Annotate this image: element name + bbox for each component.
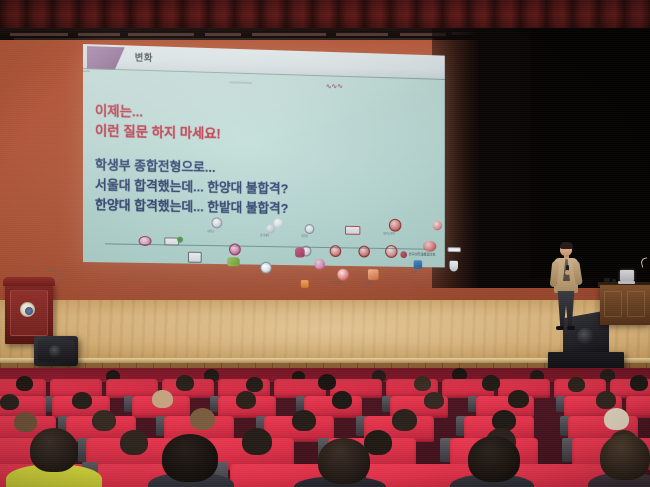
audience-head: [162, 434, 218, 482]
slide-faint-mark-2: ~~: [83, 69, 90, 75]
desk-panel: [627, 291, 645, 317]
laptop-screen: [620, 270, 634, 281]
emblem-logo: [337, 269, 348, 281]
slide-blue-line-1: 학생부 종합전형으로...: [95, 154, 216, 176]
emblem-label: 국립대: [301, 234, 308, 238]
audience-head: [292, 410, 316, 431]
emblem-logo: [274, 219, 283, 228]
slide-red-line-2: 이런 질문 하지 마세요!: [95, 119, 221, 142]
slide-footer-logo-text: 한국대학교육협의회: [409, 253, 436, 258]
podium-desk: [600, 285, 650, 325]
audience-head: [30, 428, 78, 472]
audience-head: [242, 428, 272, 455]
emblem-logo: [433, 221, 442, 231]
desk-object: [612, 279, 616, 282]
emblem-label: 대학교 본부: [383, 231, 394, 235]
emblem-logo: [450, 261, 458, 272]
projection-screen: 변화 ~~ ∿∿∿ 이제는... 이런 질문 하지 마세요! 학생부 종합전형으…: [83, 44, 445, 267]
audience-head: [596, 391, 616, 409]
lectern-crest-icon: [20, 302, 35, 317]
emblem-logo: [211, 217, 222, 228]
desk-object: [604, 278, 610, 282]
audience-seating: [0, 368, 650, 487]
audience-depth-shading: [0, 368, 650, 390]
emblem-label: 한국대학: [260, 233, 269, 237]
emblem-logo: [385, 245, 397, 258]
slide-body: ~~ ∿∿∿ 이제는... 이런 질문 하지 마세요! 학생부 종합전형으로..…: [83, 69, 445, 267]
presenter-hand: [565, 270, 570, 275]
presenter-hair: [560, 242, 573, 249]
slide-faint-mark-1: [229, 81, 252, 83]
audience-head: [14, 412, 37, 432]
audience-head: [0, 394, 19, 410]
emblem-logo: [295, 247, 305, 257]
presenter-shoe: [567, 326, 575, 330]
footer-logo-mark-icon: [400, 251, 407, 258]
audience-head: [332, 391, 352, 409]
emblem-logo: [448, 247, 461, 252]
stage-right-dark-core: [530, 28, 650, 278]
emblem-label: 대학교: [208, 229, 215, 233]
audience-head: [392, 409, 417, 431]
presenter-shoe: [556, 326, 564, 330]
slide-red-line-1: 이제는...: [95, 99, 143, 120]
lectern: [5, 282, 53, 344]
emblem-logo: [368, 269, 378, 280]
emblem-label: 산업대학교: [362, 281, 373, 285]
emblem-logo: [227, 257, 240, 266]
slide-decoration-mark: ∿∿∿: [326, 82, 343, 90]
emblem-logo: [389, 219, 401, 232]
speaker-cone-icon: [577, 328, 594, 345]
laptop-base: [618, 281, 635, 284]
emblem-logo: [188, 252, 202, 263]
audience-head: [72, 392, 92, 409]
stage-monitor-speaker: [34, 336, 78, 366]
audience-head: [364, 430, 392, 455]
audience-head: [236, 391, 256, 409]
audience-head: [120, 430, 148, 455]
audience-head: [190, 408, 215, 430]
slide-footer-rule: [105, 243, 425, 249]
audience-head: [424, 392, 444, 409]
emblem-logo: [345, 226, 360, 235]
audience-head: [604, 408, 629, 430]
emblem-label: 교육대: [410, 270, 416, 274]
emblem-label: 대학교 총장: [330, 280, 342, 284]
audience-head: [508, 390, 529, 408]
emblem-logo: [301, 280, 309, 288]
speaker-cone-icon: [49, 345, 62, 358]
audience-head: [152, 390, 173, 408]
slide-header-title: 변화: [135, 50, 153, 65]
presenter: [551, 243, 581, 329]
desk-panel: [604, 291, 622, 317]
auditorium-photo: 변화 ~~ ∿∿∿ 이제는... 이런 질문 하지 마세요! 학생부 종합전형으…: [0, 0, 650, 487]
audience-head: [600, 434, 650, 480]
emblem-logo: [305, 224, 315, 234]
emblem-logo: [414, 260, 423, 269]
emblem-logo: [314, 259, 325, 270]
slide-footer-logo: 한국대학교육협의회: [400, 251, 435, 258]
slide-blue-line-2: 서울대 합격했는데... 한양대 불합격?: [95, 174, 288, 197]
audience-head: [92, 410, 116, 431]
emblem-logo: [423, 241, 436, 252]
emblem-logo: [266, 224, 275, 233]
audience-head: [318, 438, 370, 484]
audience-head: [468, 436, 520, 482]
seat: [626, 396, 650, 418]
slide-blue-line-3: 한양대 합격했는데... 한밭대 불합격?: [95, 194, 288, 217]
presenter-trousers: [557, 291, 575, 327]
emblem-logo: [177, 237, 183, 243]
emblem-logo: [260, 262, 272, 274]
